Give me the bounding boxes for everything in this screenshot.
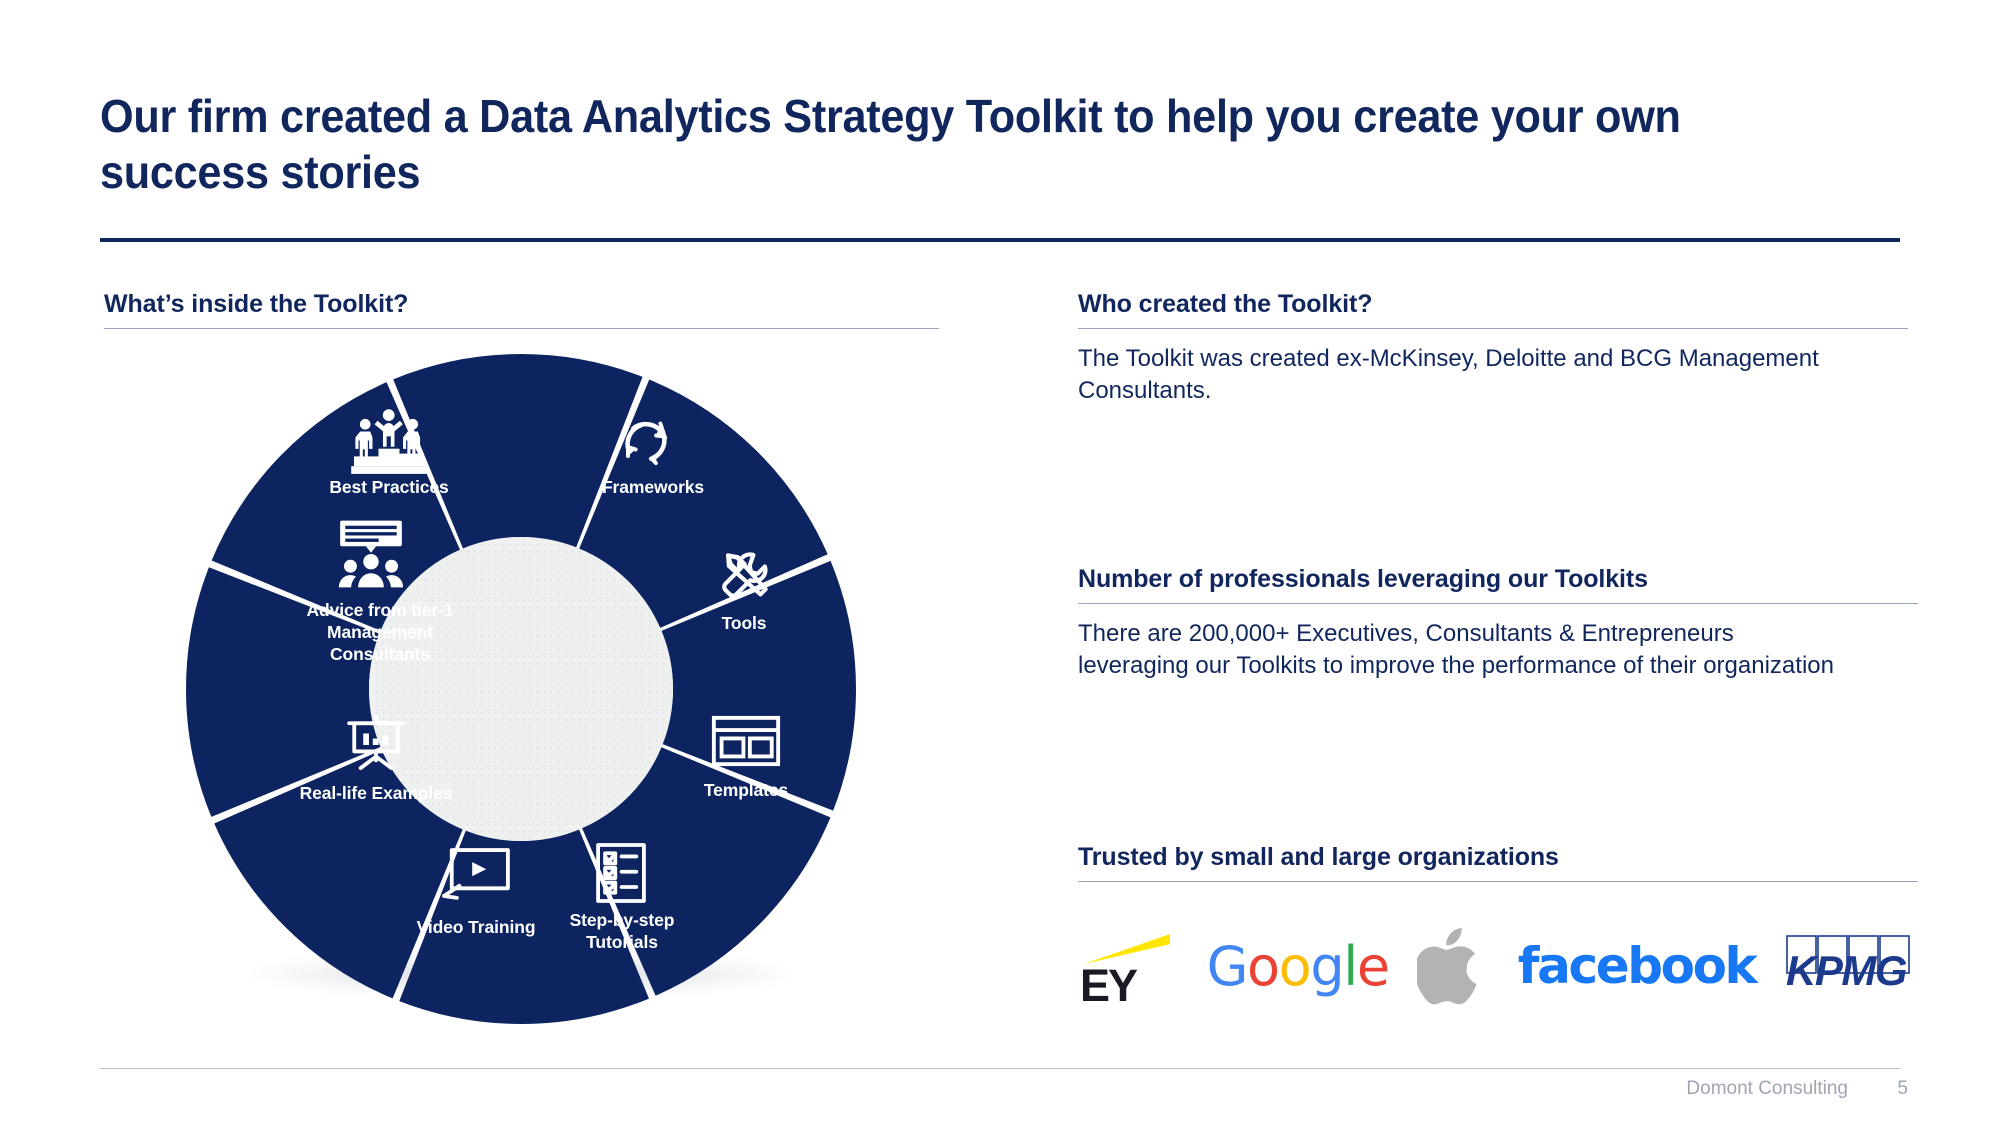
- who-created-divider: [1078, 328, 1908, 329]
- google-logo: Google: [1207, 926, 1389, 1006]
- professionals-divider: [1078, 603, 1918, 604]
- professionals-body: There are 200,000+ Executives, Consultan…: [1078, 618, 1838, 681]
- trusted-heading: Trusted by small and large organizations: [1078, 843, 1918, 872]
- professionals-heading: Number of professionals leveraging our T…: [1078, 565, 1918, 594]
- professionals-block: Number of professionals leveraging our T…: [1078, 565, 1918, 681]
- apple-icon: [1417, 923, 1489, 1009]
- whats-inside-heading: What’s inside the Toolkit?: [104, 290, 939, 319]
- facebook-wordmark: facebook: [1518, 937, 1756, 995]
- left-column: What’s inside the Toolkit?: [104, 290, 944, 329]
- trusted-block: Trusted by small and large organizations: [1078, 843, 1918, 882]
- google-wordmark: Google: [1207, 935, 1389, 998]
- footer-page-number: 5: [1897, 1078, 1908, 1100]
- svg-text:KPMG: KPMG: [1786, 947, 1907, 994]
- page-title: Our firm created a Data Analytics Strate…: [100, 88, 1783, 200]
- wheel-svg: [186, 354, 856, 1024]
- who-created-body: The Toolkit was created ex-McKinsey, Del…: [1078, 343, 1838, 406]
- trusted-divider: [1078, 881, 1918, 882]
- toolkit-wheel: Best Practices Frameworks Tools Template…: [186, 354, 856, 1024]
- kpmg-logo: KPMG: [1784, 931, 1918, 1001]
- ey-logo: EY: [1078, 926, 1178, 1006]
- who-created-heading: Who created the Toolkit?: [1078, 290, 1908, 319]
- slide-canvas: Our firm created a Data Analytics Strate…: [0, 0, 2000, 1125]
- logo-row: EY Google facebook KPMG: [1078, 920, 1918, 1012]
- wheel-hub-texture: [369, 537, 673, 841]
- kpmg-icon: KPMG: [1784, 931, 1918, 1001]
- facebook-logo: facebook: [1518, 926, 1756, 1006]
- who-created-block: Who created the Toolkit? The Toolkit was…: [1078, 290, 1908, 406]
- apple-logo: [1417, 926, 1489, 1006]
- title-divider: [100, 238, 1900, 242]
- whats-inside-divider: [104, 328, 939, 329]
- footer-company: Domont Consulting: [1686, 1078, 1848, 1100]
- ey-wordmark: EY: [1080, 960, 1136, 1012]
- footer-divider: [100, 1068, 1900, 1069]
- whats-inside-header-group: What’s inside the Toolkit?: [104, 290, 939, 329]
